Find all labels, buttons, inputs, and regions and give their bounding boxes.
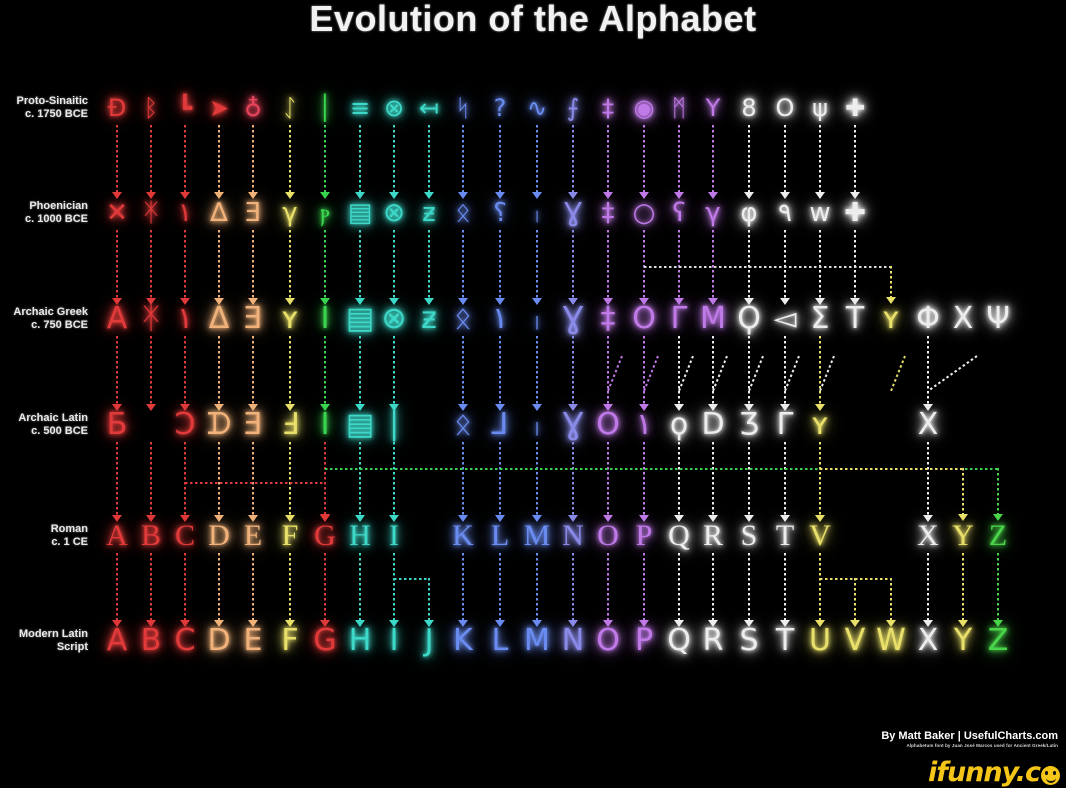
modern-t[interactable]: T — [776, 626, 794, 656]
dalet-glyph[interactable]: ∆ — [210, 200, 227, 226]
connector-proto-sinaitic-to-phoenician — [536, 125, 538, 192]
row-label-date: c. 750 BCE — [0, 319, 88, 332]
modern-n[interactable]: N — [562, 626, 584, 656]
roman-t[interactable]: T — [776, 521, 794, 551]
greek-to-latin-diagonal — [643, 356, 659, 392]
lamed-glyph[interactable]: ⸮ — [493, 200, 507, 226]
modern-q[interactable]: Q — [667, 626, 691, 656]
connector-proto-sinaitic-to-phoenician — [748, 125, 750, 192]
connector-roman-to-modern-latin — [712, 553, 714, 620]
san-glyph[interactable]: Μ — [700, 304, 726, 334]
connector-archaic-greek-to-archaic-latin — [324, 336, 326, 404]
greek-to-latin-diagonal — [607, 356, 623, 392]
connector-archaic-greek-to-archaic-latin — [748, 336, 750, 404]
ifunny-watermark: ifunny.c — [928, 759, 1060, 786]
connector-archaic-greek-to-archaic-latin — [678, 336, 680, 404]
man-arms-raised-glyph[interactable]: ♁ — [244, 96, 262, 120]
resh-glyph[interactable]: ٩ — [778, 200, 792, 226]
shin-glyph[interactable]: w — [809, 200, 830, 226]
row-label-date: Script — [0, 641, 88, 654]
rho-glyph[interactable]: ◅ — [773, 304, 796, 334]
roman-v[interactable]: V — [809, 521, 831, 551]
roman-z[interactable]: Z — [989, 521, 1007, 551]
connector-archaic-latin-to-roman — [218, 442, 220, 515]
connector-phoenician-to-archaic-greek — [184, 230, 186, 298]
connector-archaic-greek-to-archaic-latin — [289, 336, 291, 404]
wheel-glyph[interactable]: ⊗ — [384, 96, 404, 120]
r-archaic-glyph[interactable]: ᗞ — [701, 410, 724, 440]
connector-archaic-greek-to-archaic-latin — [784, 336, 786, 404]
xi-glyph[interactable]: ‡ — [601, 304, 616, 334]
d-archaic-glyph[interactable]: ᗪ — [207, 410, 232, 440]
connector-archaic-latin-to-roman — [252, 442, 254, 515]
smiley-icon — [1041, 766, 1060, 785]
eye-glyph[interactable]: ◉ — [634, 96, 655, 120]
modern-p[interactable]: P — [635, 626, 653, 656]
connector-phoenician-to-archaic-greek — [678, 230, 680, 298]
connector-roman-to-modern-latin — [252, 553, 254, 620]
roman-b[interactable]: B — [141, 521, 161, 551]
connector-archaic-latin-to-roman — [393, 442, 395, 515]
roman-e[interactable]: E — [244, 521, 262, 551]
modern-w[interactable]: W — [876, 626, 906, 656]
mark-glyph[interactable]: ✚ — [845, 96, 865, 120]
bus-drop-v — [854, 578, 856, 620]
gamma-glyph[interactable]: ١ — [177, 304, 193, 334]
bet-glyph[interactable]: ᛡ — [143, 200, 159, 226]
l-archaic-glyph[interactable]: ⅃ — [492, 410, 509, 440]
row-label-date: c. 1750 BCE — [0, 108, 88, 121]
modern-a[interactable]: A — [107, 626, 128, 656]
connector-archaic-greek-to-archaic-latin — [643, 336, 645, 404]
connector-phoenician-to-archaic-greek — [607, 230, 609, 298]
greek-to-latin-diagonal — [890, 356, 906, 392]
nun-glyph[interactable]: Ɣ — [564, 200, 582, 226]
row-label-era: Modern Latin — [19, 628, 88, 640]
connector-archaic-greek-to-archaic-latin — [393, 336, 395, 404]
weapon-glyph[interactable]: │ — [318, 96, 332, 120]
arrowhead-b-archaic-glyph — [146, 404, 156, 411]
e-archaic-glyph[interactable]: Ǝ — [244, 410, 263, 440]
connector-archaic-greek-to-archaic-latin — [150, 336, 152, 404]
kappa-glyph[interactable]: ᛟ — [454, 304, 472, 334]
connector-phoenician-to-archaic-greek — [748, 230, 750, 298]
modern-k[interactable]: K — [453, 626, 473, 656]
roman-q[interactable]: Q — [668, 521, 690, 551]
i-archaic-glyph[interactable]: │ — [385, 410, 403, 440]
breast-glyph[interactable]: ψ — [812, 96, 828, 120]
beta-glyph[interactable]: ᛡ — [142, 304, 160, 334]
chi-glyph[interactable]: Χ — [953, 304, 974, 334]
modern-u[interactable]: U — [809, 626, 831, 656]
zeta-glyph[interactable]: I — [321, 304, 330, 334]
c-archaic-glyph[interactable]: Ɔ — [174, 410, 195, 440]
connector-phoenician-to-archaic-greek — [572, 230, 574, 298]
throwstick-glyph[interactable]: ┗ — [178, 96, 192, 120]
water-glyph[interactable]: ∿ — [527, 96, 547, 120]
connector-archaic-greek-to-archaic-latin — [819, 336, 821, 404]
connector-phoenician-to-archaic-greek — [499, 230, 501, 298]
house-glyph[interactable]: ᛒ — [144, 96, 158, 120]
greek-to-latin-diagonal — [712, 356, 728, 392]
connector-phoenician-to-archaic-greek — [819, 230, 821, 298]
modern-o[interactable]: O — [596, 626, 620, 656]
roman-o[interactable]: O — [597, 521, 619, 551]
connector-archaic-latin-to-roman — [678, 442, 680, 515]
connector-phoenician-to-archaic-greek — [784, 230, 786, 298]
row-label-roman: Romanc. 1 CE — [0, 523, 88, 548]
phi-glyph[interactable]: Φ — [916, 304, 940, 334]
o-archaic-glyph[interactable]: Ο — [596, 410, 620, 440]
bus-drop-y — [962, 468, 964, 514]
connector-archaic-latin-to-roman — [607, 442, 609, 515]
connector-proto-sinaitic-to-phoenician — [116, 125, 118, 192]
modern-m[interactable]: M — [524, 626, 550, 656]
aleph-glyph[interactable]: ✕ — [106, 200, 128, 226]
roman-x[interactable]: X — [917, 521, 939, 551]
row-label-date: c. 500 BCE — [0, 425, 88, 438]
credit-author: By Matt Baker | UsefulCharts.com — [881, 730, 1058, 742]
modern-b[interactable]: B — [141, 626, 162, 656]
modern-c[interactable]: C — [175, 626, 196, 656]
connector-proto-sinaitic-to-phoenician — [462, 125, 464, 192]
greek-to-latin-diagonal — [748, 356, 764, 392]
connector-proto-sinaitic-to-phoenician — [854, 125, 856, 192]
palm-glyph[interactable]: ᛋ — [456, 96, 470, 120]
connector-archaic-greek-to-archaic-latin — [252, 336, 254, 404]
zayin-glyph[interactable]: ⲣ — [320, 200, 330, 226]
gimel-glyph[interactable]: ١ — [178, 200, 192, 226]
connector-phoenician-to-archaic-greek — [289, 230, 291, 298]
chart-canvas: Evolution of the Alphabet Proto-Sinaitic… — [0, 0, 1066, 788]
modern-d[interactable]: D — [207, 626, 230, 656]
connector-phoenician-to-archaic-greek — [218, 230, 220, 298]
connector-roman-to-modern-latin — [218, 553, 220, 620]
roman-p[interactable]: P — [636, 521, 653, 551]
qoppa-glyph[interactable]: Ϙ — [737, 304, 761, 334]
sun-glyph[interactable]: Օ — [776, 96, 795, 120]
connector-proto-sinaitic-to-phoenician — [252, 125, 254, 192]
row-label-proto-sinaitic: Proto-Sinaiticc. 1750 BCE — [0, 95, 88, 120]
qof-glyph[interactable]: φ — [740, 200, 757, 226]
credit-font-note: Alphabetum font by Juan José Marcos used… — [881, 743, 1058, 748]
bus-drop-upsilon — [890, 266, 892, 297]
fish-glyph[interactable]: ➤ — [209, 96, 229, 120]
roman-i[interactable]: I — [389, 521, 399, 551]
v-to-y-bus — [820, 468, 963, 470]
connector-archaic-greek-to-archaic-latin — [184, 336, 186, 404]
ox-head-glyph[interactable]: Ð — [108, 96, 127, 120]
connector-phoenician-to-archaic-greek — [462, 230, 464, 298]
modern-v[interactable]: V — [845, 626, 866, 656]
connector-archaic-greek-to-archaic-latin — [462, 336, 464, 404]
hand-glyph[interactable]: ↤ — [419, 96, 439, 120]
row-label-date: c. 1 CE — [0, 536, 88, 549]
connector-archaic-greek-to-archaic-latin — [359, 336, 361, 404]
connector-roman-to-modern-latin — [536, 553, 538, 620]
connector-roman-to-modern-latin — [997, 553, 999, 620]
delta-glyph[interactable]: Δ — [209, 304, 230, 334]
connector-archaic-greek-to-archaic-latin — [927, 336, 929, 404]
modern-g[interactable]: G — [313, 626, 336, 656]
connector-roman-to-modern-latin — [927, 553, 929, 620]
modern-z[interactable]: Z — [988, 626, 1009, 656]
bus-drop-j — [428, 578, 430, 620]
connector-archaic-latin-to-roman — [150, 442, 152, 515]
connector-proto-sinaitic-to-phoenician — [643, 125, 645, 192]
connector-roman-to-modern-latin — [819, 553, 821, 620]
connector-phoenician-to-archaic-greek — [854, 230, 856, 298]
sigma-glyph[interactable]: Σ — [811, 304, 830, 334]
connector-proto-sinaitic-to-phoenician — [359, 125, 361, 192]
connector-archaic-latin-to-roman — [499, 442, 501, 515]
modern-j[interactable]: J — [425, 626, 434, 656]
roman-l[interactable]: L — [491, 521, 509, 551]
bus-drop-g — [324, 482, 326, 514]
greek-to-latin-diagonal — [819, 356, 835, 392]
f-archaic-glyph[interactable]: Ⅎ — [281, 410, 298, 440]
a-archaic-glyph[interactable]: Б — [107, 410, 128, 440]
modern-l[interactable]: L — [492, 626, 509, 656]
connector-archaic-latin-to-roman — [359, 442, 361, 515]
z-archaic-glyph[interactable]: I — [321, 410, 330, 440]
modern-f[interactable]: F — [281, 626, 298, 656]
connector-archaic-greek-to-archaic-latin — [218, 336, 220, 404]
connector-archaic-latin-to-roman — [784, 442, 786, 515]
connector-proto-sinaitic-to-phoenician — [607, 125, 609, 192]
modern-y[interactable]: Y — [954, 626, 972, 656]
modern-e[interactable]: E — [244, 626, 263, 656]
connector-proto-sinaitic-to-phoenician — [678, 125, 680, 192]
p-archaic-glyph[interactable]: ١ — [636, 410, 652, 440]
connector-proto-sinaitic-to-phoenician — [184, 125, 186, 192]
connector-archaic-greek-to-archaic-latin — [116, 336, 118, 404]
connector-proto-sinaitic-to-phoenician — [819, 125, 821, 192]
mu-glyph[interactable]: ᛧ — [528, 304, 546, 334]
kaf-glyph[interactable]: ᛟ — [455, 200, 471, 226]
h-archaic-glyph[interactable]: ▤ — [346, 410, 374, 440]
row-label-era: Proto-Sinaitic — [16, 95, 88, 107]
connector-archaic-latin-to-roman — [927, 442, 929, 515]
lambda-glyph[interactable]: ١ — [492, 304, 508, 334]
roman-k[interactable]: K — [452, 521, 474, 551]
connector-archaic-greek-to-archaic-latin — [712, 336, 714, 404]
credit-block: By Matt Baker | UsefulCharts.com Alphabe… — [881, 730, 1058, 748]
q-archaic-glyph[interactable]: ϙ — [670, 410, 688, 440]
connector-archaic-latin-to-roman — [748, 442, 750, 515]
connector-archaic-latin-to-roman — [712, 442, 714, 515]
connector-roman-to-modern-latin — [784, 553, 786, 620]
connector-proto-sinaitic-to-phoenician — [428, 125, 430, 192]
t-archaic-glyph[interactable]: Γ — [777, 410, 794, 440]
greek-to-latin-diagonal — [927, 355, 977, 392]
connector-roman-to-modern-latin — [116, 553, 118, 620]
roman-m[interactable]: M — [524, 521, 551, 551]
support-glyph[interactable]: ‡ — [602, 96, 614, 120]
connector-roman-to-modern-latin — [607, 553, 609, 620]
greek-to-latin-diagonal — [784, 356, 800, 392]
connector-phoenician-to-archaic-greek — [393, 230, 395, 298]
row-label-era: Phoenician — [29, 200, 88, 212]
head-glyph[interactable]: 8 — [741, 96, 756, 120]
het-glyph[interactable]: ▤ — [348, 200, 373, 226]
connector-archaic-latin-to-roman — [643, 442, 645, 515]
ayin-glyph[interactable]: ○ — [633, 200, 656, 226]
nu-glyph[interactable]: Ɣ — [563, 304, 584, 334]
connector-archaic-greek-to-archaic-latin — [499, 336, 501, 404]
s-archaic-glyph[interactable]: Ʒ — [739, 410, 759, 440]
mouth-glyph[interactable]: ᛗ — [672, 96, 686, 120]
connector-roman-to-modern-latin — [643, 553, 645, 620]
he-glyph[interactable]: Ǝ — [245, 200, 261, 226]
connector-archaic-greek-to-archaic-latin — [572, 336, 574, 404]
modern-x[interactable]: X — [918, 626, 939, 656]
connector-roman-to-modern-latin — [499, 553, 501, 620]
omicron-glyph[interactable]: Ο — [632, 304, 656, 334]
connector-phoenician-to-archaic-greek — [643, 230, 645, 298]
connector-phoenician-to-archaic-greek — [252, 230, 254, 298]
pi-glyph[interactable]: Γ — [671, 304, 688, 334]
bus-drop-w — [890, 578, 892, 620]
footer-bar — [0, 744, 1066, 788]
waw-glyph[interactable]: γ — [282, 200, 297, 226]
connector-proto-sinaitic-to-phoenician — [150, 125, 152, 192]
connector-roman-to-modern-latin — [150, 553, 152, 620]
iota-glyph[interactable]: ƶ — [421, 304, 437, 334]
hook-glyph[interactable]: ᛇ — [283, 96, 297, 120]
connector-proto-sinaitic-to-phoenician — [218, 125, 220, 192]
epsilon-glyph[interactable]: Ǝ — [244, 304, 263, 334]
roman-s[interactable]: S — [741, 521, 758, 551]
row-label-date: c. 1000 BCE — [0, 213, 88, 226]
upsilon-glyph[interactable]: ʏ — [882, 304, 900, 334]
modern-h[interactable]: H — [349, 626, 372, 656]
samekh-glyph[interactable]: ‡ — [602, 200, 615, 226]
row-label-archaic-latin: Archaic Latinc. 500 BCE — [0, 412, 88, 437]
connector-phoenician-to-archaic-greek — [359, 230, 361, 298]
row-label-era: Archaic Latin — [18, 412, 88, 424]
psi-glyph[interactable]: Ψ — [986, 304, 1010, 334]
connector-proto-sinaitic-to-phoenician — [393, 125, 395, 192]
eta-glyph[interactable]: ▤ — [346, 304, 374, 334]
connector-roman-to-modern-latin — [393, 553, 395, 620]
connector-archaic-latin-to-roman — [289, 442, 291, 515]
connector-archaic-greek-to-archaic-latin — [607, 336, 609, 404]
k-archaic-glyph[interactable]: ᛟ — [454, 410, 472, 440]
connector-proto-sinaitic-to-phoenician — [499, 125, 501, 192]
connector-phoenician-to-archaic-greek — [536, 230, 538, 298]
roman-g[interactable]: G — [314, 521, 336, 551]
row-label-era: Archaic Greek — [13, 306, 88, 318]
digamma-glyph[interactable]: ʏ — [281, 304, 299, 334]
connector-proto-sinaitic-to-phoenician — [572, 125, 574, 192]
connector-proto-sinaitic-to-phoenician — [324, 125, 326, 192]
row-label-archaic-greek: Archaic Greekc. 750 BCE — [0, 306, 88, 331]
connector-roman-to-modern-latin — [359, 553, 361, 620]
mem-glyph[interactable]: ᛧ — [529, 200, 545, 226]
taw-glyph[interactable]: ✚ — [844, 200, 866, 226]
connector-archaic-greek-to-archaic-latin — [536, 336, 538, 404]
connector-proto-sinaitic-to-phoenician — [712, 125, 714, 192]
connector-roman-to-modern-latin — [184, 553, 186, 620]
watermark-text: ifunny.c — [928, 759, 1040, 786]
connector-roman-to-modern-latin — [962, 553, 964, 620]
modern-r[interactable]: R — [703, 626, 724, 656]
connector-roman-to-modern-latin — [748, 553, 750, 620]
connector-roman-to-modern-latin — [462, 553, 464, 620]
tsade-glyph[interactable]: γ — [705, 200, 720, 226]
row-label-phoenician: Phoenicianc. 1000 BCE — [0, 200, 88, 225]
roman-r[interactable]: R — [703, 521, 723, 551]
snake-glyph[interactable]: ⨍ — [567, 96, 580, 120]
roman-c[interactable]: C — [175, 521, 195, 551]
connector-archaic-latin-to-roman — [116, 442, 118, 515]
modern-i[interactable]: I — [390, 626, 399, 656]
roman-d[interactable]: D — [208, 521, 230, 551]
connector-proto-sinaitic-to-phoenician — [289, 125, 291, 192]
greek-to-latin-diagonal — [678, 356, 694, 392]
connector-roman-to-modern-latin — [572, 553, 574, 620]
roman-y[interactable]: Y — [952, 521, 974, 551]
connector-archaic-latin-to-roman — [184, 442, 186, 515]
alpha-glyph[interactable]: Α — [107, 304, 128, 334]
connector-phoenician-to-archaic-greek — [712, 230, 714, 298]
greek-extra-letters-bus — [644, 266, 891, 268]
x-archaic-glyph[interactable]: Χ — [918, 410, 939, 440]
pe-glyph[interactable]: ʕ — [672, 200, 685, 226]
theta-glyph[interactable]: ⊗ — [381, 304, 406, 334]
connector-archaic-latin-to-roman — [819, 442, 821, 515]
goad-glyph[interactable]: ? — [494, 96, 507, 120]
page-title: Evolution of the Alphabet — [0, 0, 1066, 40]
yod-glyph[interactable]: ƶ — [422, 200, 436, 226]
connector-proto-sinaitic-to-phoenician — [784, 125, 786, 192]
plant-glyph[interactable]: Υ — [706, 96, 721, 120]
roman-f[interactable]: F — [282, 521, 299, 551]
connector-archaic-latin-to-roman — [572, 442, 574, 515]
modern-s[interactable]: S — [739, 626, 758, 656]
fence-glyph[interactable]: ≡ — [350, 96, 370, 120]
tet-glyph[interactable]: ⊗ — [383, 200, 405, 226]
connector-roman-to-modern-latin — [289, 553, 291, 620]
v-archaic-glyph[interactable]: ʏ — [811, 410, 829, 440]
bus-drop-z — [997, 468, 999, 514]
roman-h[interactable]: H — [349, 521, 371, 551]
tau-glyph[interactable]: Τ — [846, 304, 864, 334]
c-to-g-bus — [185, 482, 325, 484]
m-archaic-glyph[interactable]: ᛧ — [528, 410, 546, 440]
n-archaic-glyph[interactable]: Ɣ — [563, 410, 584, 440]
connector-roman-to-modern-latin — [324, 553, 326, 620]
connector-phoenician-to-archaic-greek — [428, 230, 430, 298]
i-to-j-bus — [394, 578, 429, 580]
connector-roman-to-modern-latin — [678, 553, 680, 620]
connector-archaic-latin-to-roman — [462, 442, 464, 515]
connector-phoenician-to-archaic-greek — [324, 230, 326, 298]
roman-a[interactable]: A — [106, 521, 128, 551]
roman-n[interactable]: N — [562, 521, 584, 551]
row-label-modern-latin: Modern LatinScript — [0, 628, 88, 653]
connector-phoenician-to-archaic-greek — [150, 230, 152, 298]
connector-phoenician-to-archaic-greek — [116, 230, 118, 298]
connector-archaic-latin-to-roman — [536, 442, 538, 515]
row-label-era: Roman — [51, 523, 88, 535]
